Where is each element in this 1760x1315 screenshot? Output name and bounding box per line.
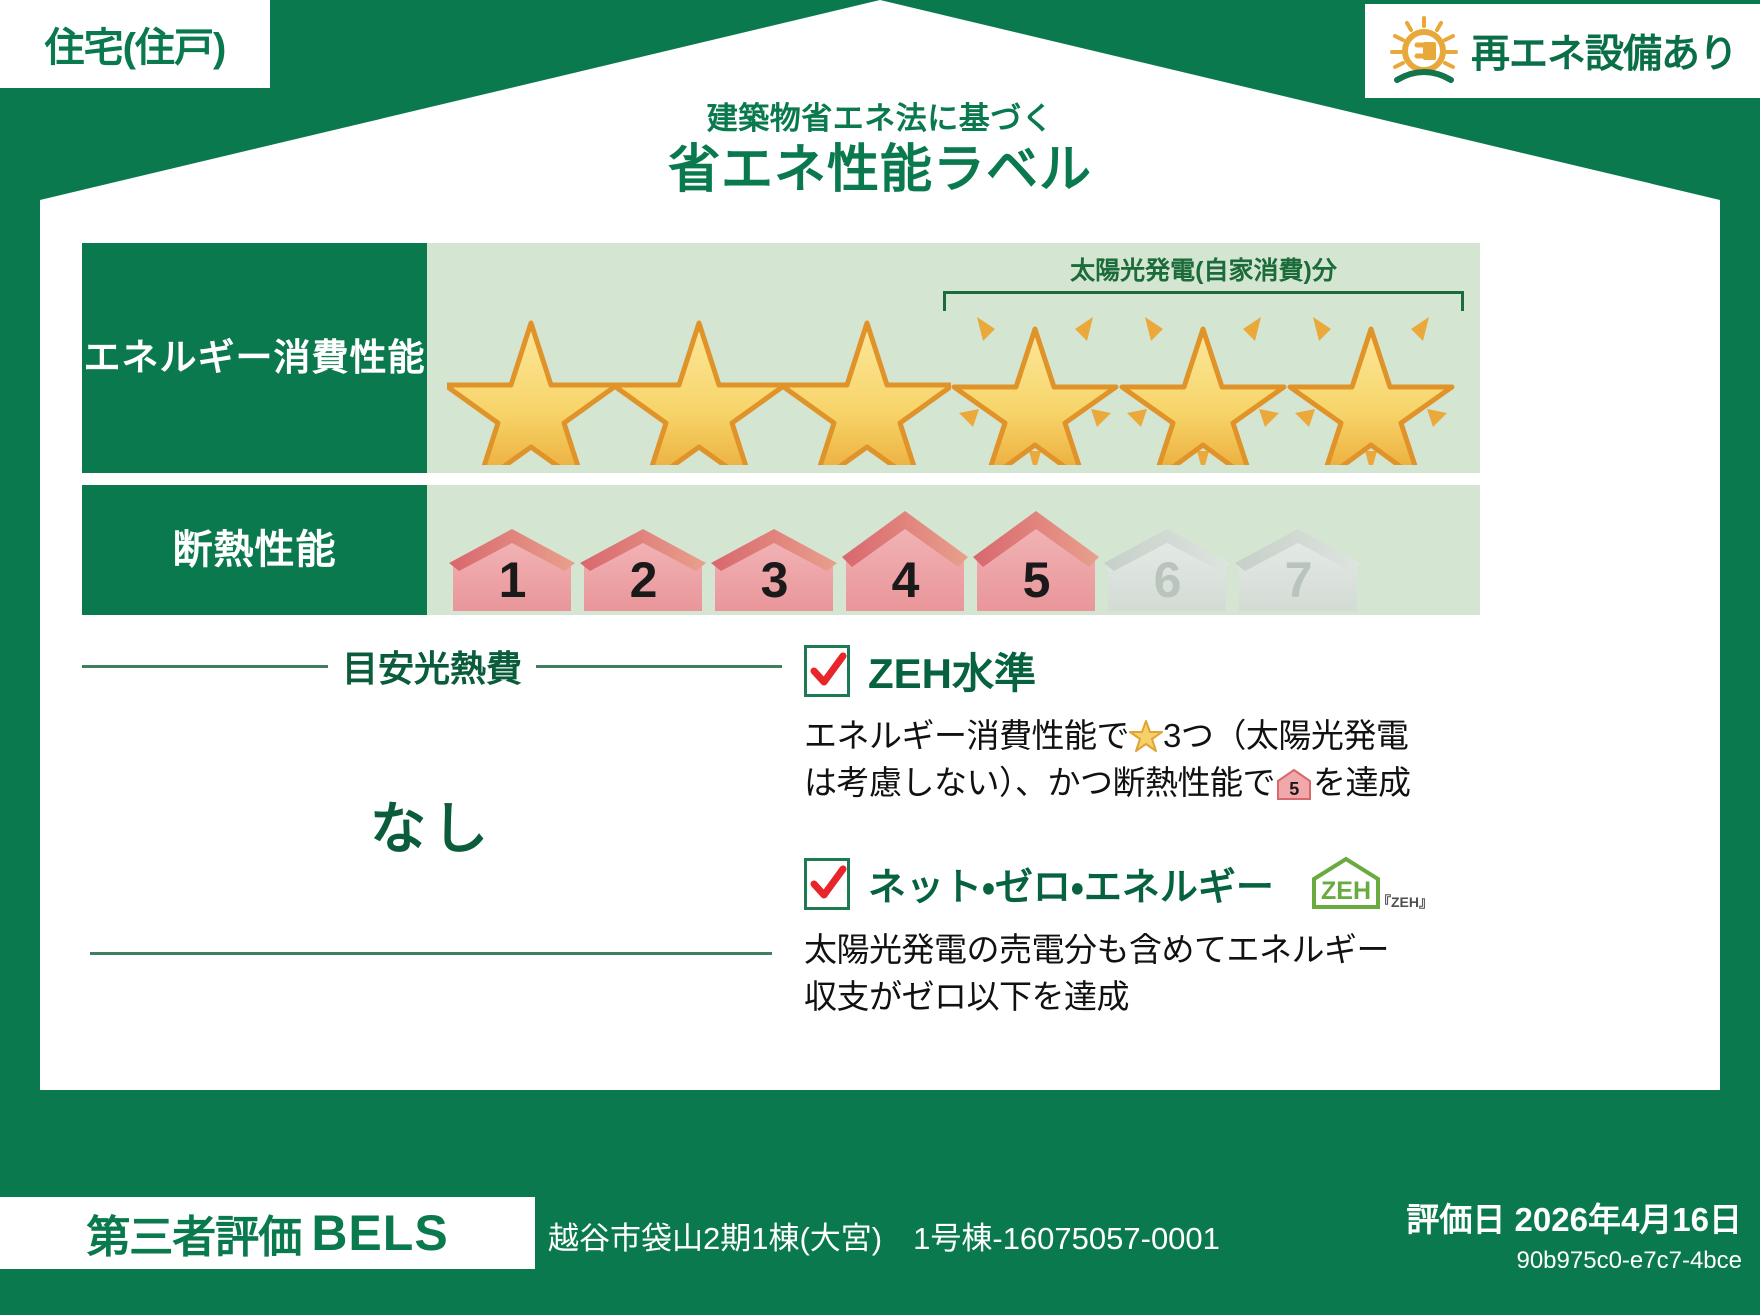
renewable-energy-badge: 再エネ設備あり (1365, 4, 1760, 98)
star-icon (615, 295, 783, 465)
insulation-grade-number: 5 (971, 555, 1102, 605)
insulation-grade-house: 5 (971, 503, 1102, 615)
nze-desc-line1: 太陽光発電の売電分も含めてエネルギー (804, 931, 1389, 968)
checkbox-checked-icon[interactable] (804, 858, 850, 910)
insulation-grade-house-inactive: 7 (1233, 523, 1364, 615)
energy-performance-label: エネルギー消費性能 (82, 243, 427, 473)
divider-right (536, 665, 782, 668)
label-title-block: 建築物省エネ法に基づく 省エネ性能ラベル (0, 102, 1760, 203)
energy-performance-label-text: エネルギー消費性能 (84, 335, 426, 380)
zeh-standard-description: エネルギー消費性能で3つ（太陽光発電 は考慮しない）、かつ断熱性能で5を達成 (804, 713, 1482, 807)
checkbox-checked-icon[interactable] (804, 645, 850, 697)
bels-badge: 第三者評価 BELS (0, 1197, 535, 1269)
utility-cost-bottom-divider (90, 952, 772, 955)
nze-desc-line2: 収支がゼロ以下を達成 (804, 978, 1129, 1015)
lower-section: 目安光熱費 なし ZEH水準 エネルギー消費性能で3つ（太陽光発電 は考慮しない… (82, 640, 1482, 1020)
insulation-grade-house: 1 (447, 523, 578, 615)
solar-bracket-label: 太陽光発電(自家消費)分 (927, 251, 1480, 287)
insulation-grade-scale: 1 2 3 (447, 503, 1364, 615)
star-icon-inline (1129, 719, 1163, 753)
energy-performance-body: 太陽光発電(自家消費)分 (427, 243, 1480, 473)
svg-text:ZEH: ZEH (1321, 877, 1371, 905)
net-zero-energy-item: ネット・ゼロ・エネルギー ZEH 『ZEH』 (804, 853, 1482, 915)
title-subtitle: 建築物省エネ法に基づく (0, 102, 1760, 136)
star-icon (447, 295, 615, 465)
star-icon-solar (951, 295, 1119, 465)
insulation-performance-label-text: 断熱性能 (173, 526, 337, 575)
star-icon-solar (1287, 295, 1455, 465)
svg-text:5: 5 (1289, 779, 1299, 799)
utility-cost-title: 目安光熱費 (342, 640, 522, 692)
insulation-grade-house: 4 (840, 503, 971, 615)
document-id: 90b975c0-e7c7-4bce (1406, 1247, 1742, 1275)
solar-plug-icon (1387, 14, 1461, 88)
insulation-grade-number: 7 (1233, 555, 1364, 605)
svg-text:『ZEH』: 『ZEH』 (1377, 894, 1426, 910)
building-type-label: 住宅(住戸) (45, 15, 226, 73)
insulation-grade-number: 1 (447, 555, 578, 605)
insulation-performance-row: 断熱性能 (82, 485, 1480, 615)
insulation-grade-number: 4 (840, 555, 971, 605)
star-icon-solar (1119, 295, 1287, 465)
star-rating (427, 295, 1480, 465)
star-icon (783, 295, 951, 465)
property-address: 越谷市袋山2期1棟(大宮) 1号棟-16075057-0001 (548, 1213, 1220, 1258)
footer-meta: 評価日 2026年4月16日 90b975c0-e7c7-4bce (1406, 1193, 1742, 1275)
performance-rows: エネルギー消費性能 太陽光発電(自家消費)分 (82, 243, 1480, 615)
zeh-desc-part1: エネルギー消費性能で (804, 717, 1129, 754)
utility-cost-block: 目安光熱費 なし (82, 640, 782, 1020)
renewable-energy-label: 再エネ設備あり (1471, 23, 1737, 79)
insulation-grade-house: 3 (709, 523, 840, 615)
utility-cost-heading: 目安光熱費 (82, 640, 782, 692)
zeh-standard-title: ZEH水準 (868, 640, 1036, 701)
insulation-grade-number: 3 (709, 555, 840, 605)
insulation-grade-house-inactive: 6 (1102, 523, 1233, 615)
zeh-logo-icon: ZEH 『ZEH』 (1306, 853, 1426, 915)
net-zero-energy-title: ネット・ゼロ・エネルギー (868, 856, 1274, 911)
title-main: 省エネ性能ラベル (0, 138, 1760, 203)
bels-en-label: BELS (311, 1204, 448, 1262)
zeh-desc-part4: を達成 (1313, 764, 1411, 801)
insulation-grade-number: 2 (578, 555, 709, 605)
utility-cost-value: なし (82, 784, 782, 865)
insulation-grade-inline-icon: 5 (1275, 766, 1313, 802)
zeh-block: ZEH水準 エネルギー消費性能で3つ（太陽光発電 は考慮しない）、かつ断熱性能で… (782, 640, 1482, 1020)
divider-left (82, 665, 328, 668)
zeh-desc-part3: は考慮しない）、かつ断熱性能で (804, 764, 1275, 801)
evaluation-date: 評価日 2026年4月16日 (1406, 1193, 1742, 1241)
net-zero-energy-block: ネット・ゼロ・エネルギー ZEH 『ZEH』 太陽光発電の売電分も含めてエネルギ… (804, 853, 1482, 1021)
insulation-grade-number: 6 (1102, 555, 1233, 605)
zeh-desc-part2: 3つ（太陽光発電 (1163, 717, 1408, 754)
insulation-grade-house: 2 (578, 523, 709, 615)
zeh-standard-item: ZEH水準 (804, 640, 1482, 701)
footer: 第三者評価 BELS 越谷市袋山2期1棟(大宮) 1号棟-16075057-00… (0, 1185, 1760, 1315)
net-zero-energy-description: 太陽光発電の売電分も含めてエネルギー 収支がゼロ以下を達成 (804, 927, 1482, 1021)
insulation-performance-body: 1 2 3 (427, 485, 1480, 615)
insulation-performance-label: 断熱性能 (82, 485, 427, 615)
energy-performance-row: エネルギー消費性能 太陽光発電(自家消費)分 (82, 243, 1480, 473)
bels-jp-label: 第三者評価 (86, 1201, 301, 1265)
building-type-badge: 住宅(住戸) (0, 0, 270, 88)
